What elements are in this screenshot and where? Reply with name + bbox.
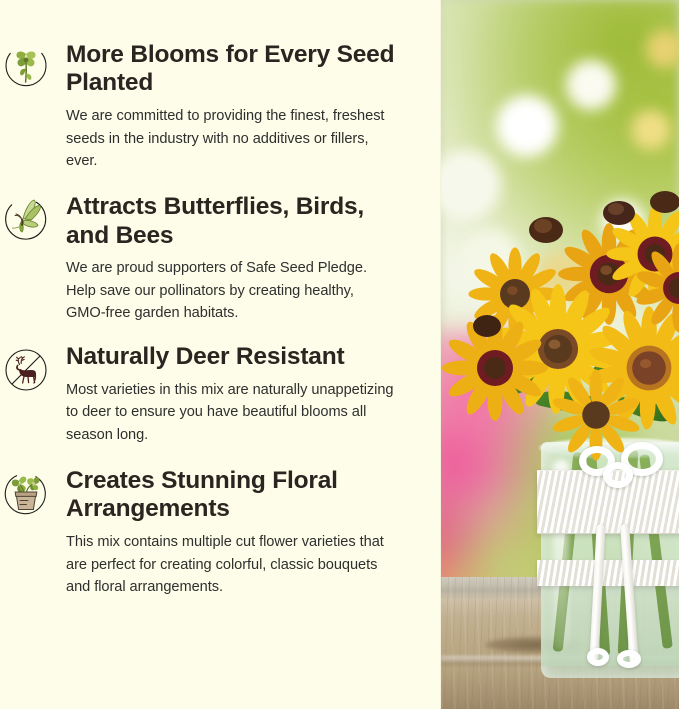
feature-title: Naturally Deer Resistant [66,343,411,371]
feature-item-more-blooms: More Blooms for Every Seed Planted We ar… [0,41,441,173]
feature-item-deer-resistant: Naturally Deer Resistant Most varieties … [0,343,441,447]
features-panel: More Blooms for Every Seed Planted We ar… [0,0,441,709]
product-photo [441,0,679,709]
feature-description: We are proud supporters of Safe Seed Ple… [66,257,396,325]
potted-plant-icon [3,471,49,517]
flower-bloom-icon [3,45,49,91]
feature-description: This mix contains multiple cut flower va… [66,531,396,599]
feature-title: More Blooms for Every Seed Planted [66,41,411,98]
feature-item-attracts-pollinators: Attracts Butterflies, Birds, and Bees We… [0,193,441,325]
product-feature-page: More Blooms for Every Seed Planted We ar… [0,0,679,709]
feature-description: Most varieties in this mix are naturally… [66,379,396,447]
feature-description: We are committed to providing the finest… [66,105,396,173]
feature-title: Attracts Butterflies, Birds, and Bees [66,193,411,250]
butterfly-icon [3,197,49,243]
feature-title: Creates Stunning Floral Arrangements [66,467,411,524]
feature-item-floral-arrangements: Creates Stunning Floral Arrangements Thi… [0,467,441,599]
photo-rope-wrap [441,0,679,709]
deer-resistant-icon [3,347,49,393]
